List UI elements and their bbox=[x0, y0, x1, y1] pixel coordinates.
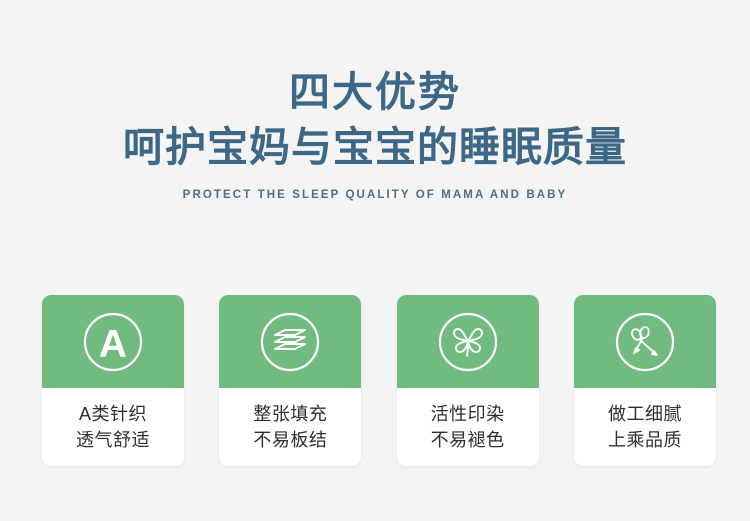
feature-card[interactable]: A A类针织 透气舒适 bbox=[42, 295, 184, 466]
card-line-1: 整张填充 bbox=[253, 401, 327, 427]
feature-card[interactable]: 活性印染 不易褪色 bbox=[397, 295, 539, 466]
card-text-area: A类针织 透气舒适 bbox=[42, 388, 184, 466]
feature-card[interactable]: 整张填充 不易板结 bbox=[219, 295, 361, 466]
card-icon-area: A bbox=[42, 295, 184, 388]
card-text-area: 整张填充 不易板结 bbox=[219, 388, 361, 466]
card-line-2: 不易褪色 bbox=[431, 427, 505, 453]
headline-english-subtitle: PROTECT THE SLEEP QUALITY OF MAMA AND BA… bbox=[0, 172, 750, 202]
card-icon-area bbox=[219, 295, 361, 388]
svg-text:A: A bbox=[99, 323, 127, 366]
card-line-2: 透气舒适 bbox=[76, 427, 150, 453]
card-icon-area bbox=[574, 295, 716, 388]
feature-card[interactable]: 做工细腻 上乘品质 bbox=[574, 295, 716, 466]
promo-banner: 四大优势 呵护宝妈与宝宝的睡眠质量 PROTECT THE SLEEP QUAL… bbox=[0, 0, 750, 521]
card-line-2: 上乘品质 bbox=[608, 427, 682, 453]
stacked-layers-in-circle-icon bbox=[259, 311, 321, 373]
card-line-1: 活性印染 bbox=[431, 401, 505, 427]
headline-secondary: 呵护宝妈与宝宝的睡眠质量 bbox=[0, 116, 750, 172]
card-icon-area bbox=[397, 295, 539, 388]
headline-primary: 四大优势 bbox=[0, 0, 750, 116]
card-line-2: 不易板结 bbox=[253, 427, 327, 453]
card-text-area: 做工细腻 上乘品质 bbox=[574, 388, 716, 466]
four-leaf-clover-in-circle-icon bbox=[437, 311, 499, 373]
card-line-1: A类针织 bbox=[79, 401, 147, 427]
letter-a-in-circle-icon: A bbox=[82, 311, 144, 373]
card-text-area: 活性印染 不易褪色 bbox=[397, 388, 539, 466]
feature-card-list: A A类针织 透气舒适 bbox=[42, 295, 716, 466]
banner-header: 四大优势 呵护宝妈与宝宝的睡眠质量 PROTECT THE SLEEP QUAL… bbox=[0, 0, 750, 202]
scissors-in-circle-icon bbox=[614, 311, 676, 373]
card-line-1: 做工细腻 bbox=[608, 401, 682, 427]
